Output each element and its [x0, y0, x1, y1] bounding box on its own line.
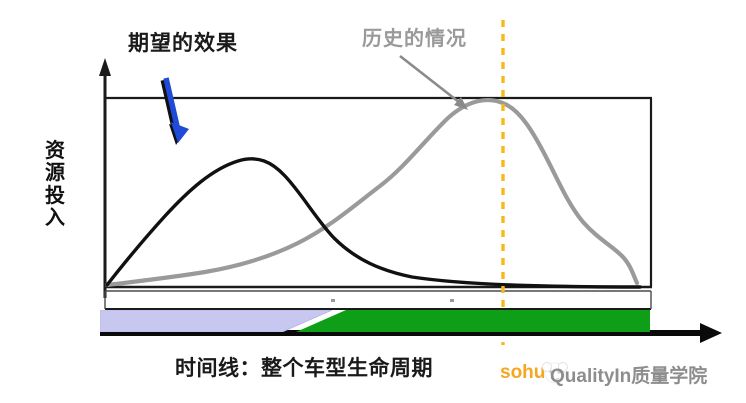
annotation-expected-effect: 期望的效果 [128, 27, 238, 57]
watermark-source-text: sohu [500, 362, 545, 384]
phase-band-early [100, 310, 332, 332]
x-axis-label: 时间线：整个车型生命周期 [175, 352, 433, 382]
y-axis-label: 资源投入 [38, 140, 72, 230]
slide-canvas: 期望的效果 历史的情况 资源投入 时间线：整个车型生命周期 sohu Quali… [0, 0, 746, 403]
series-expected-curve [107, 159, 640, 287]
annotation-history-situation: 历史的情况 [362, 22, 467, 51]
blue-annotation-arrow [164, 78, 189, 145]
watermark-brand-text: QualityIn质量学院 [550, 361, 707, 388]
phase-band-late [296, 310, 650, 332]
y-axis [99, 58, 111, 298]
watermark: sohu QualityIn质量学院 [498, 358, 746, 390]
gray-annotation-arrow [400, 56, 468, 110]
chart-figure [0, 0, 746, 403]
sub-band-frame [105, 291, 651, 309]
phase-band-group [100, 310, 650, 332]
